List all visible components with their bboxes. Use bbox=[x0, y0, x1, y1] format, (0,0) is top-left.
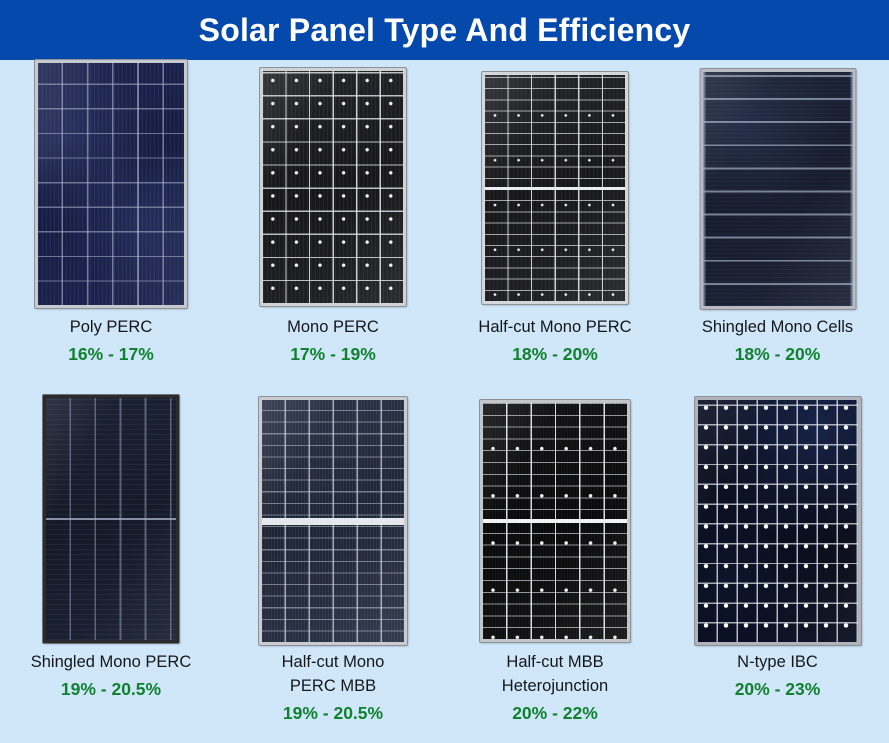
panel-efficiency: 20% - 23% bbox=[666, 677, 889, 702]
panel-image-wrap bbox=[260, 68, 406, 306]
panel-name: Half-cut MBB Heterojunction bbox=[444, 651, 666, 699]
panel-efficiency: 19% - 20.5% bbox=[222, 701, 444, 726]
panel-efficiency: 18% - 20% bbox=[666, 342, 889, 367]
panel-efficiency: 17% - 19% bbox=[222, 342, 444, 367]
header-bar: Solar Panel Type And Efficiency bbox=[0, 0, 889, 60]
page-title: Solar Panel Type And Efficiency bbox=[199, 14, 691, 46]
panel-grid: Poly PERC 16% - 17% Mono PERC 17% - 19% bbox=[0, 60, 889, 743]
panel-image-wrap bbox=[695, 397, 861, 645]
infographic-root: Solar Panel Type And Efficiency Poly PER… bbox=[0, 0, 889, 743]
panel-image-wrap bbox=[35, 60, 187, 308]
panel-name: N-type IBC bbox=[666, 651, 889, 675]
panel-image-wrap bbox=[482, 72, 628, 304]
panel-image-wrap bbox=[259, 397, 407, 645]
panel-efficiency: 19% - 20.5% bbox=[0, 677, 222, 702]
solar-panel-halfcut-mono-perc-icon bbox=[482, 72, 628, 304]
panel-image-wrap bbox=[700, 69, 855, 309]
panel-name: Half-cut Mono PERC bbox=[444, 316, 666, 340]
panel-name: Mono PERC bbox=[222, 316, 444, 340]
panel-name: Shingled Mono PERC bbox=[0, 651, 222, 675]
solar-panel-shingled-mono-cells-icon bbox=[700, 69, 855, 309]
panel-name: Half-cut Mono PERC MBB bbox=[222, 651, 444, 699]
solar-panel-poly-perc-icon bbox=[35, 60, 187, 308]
panel-name: Poly PERC bbox=[0, 316, 222, 340]
panel-image-wrap bbox=[43, 395, 179, 643]
solar-panel-shingled-mono-perc-icon bbox=[43, 395, 179, 643]
panel-efficiency: 20% - 22% bbox=[444, 701, 666, 726]
solar-panel-halfcut-mono-perc-mbb-icon bbox=[259, 397, 407, 645]
solar-panel-mono-perc-icon bbox=[260, 68, 406, 306]
panel-efficiency: 16% - 17% bbox=[0, 342, 222, 367]
panel-name: Shingled Mono Cells bbox=[666, 316, 889, 340]
solar-panel-halfcut-mbb-heterojunction-icon bbox=[480, 400, 630, 642]
panel-efficiency: 18% - 20% bbox=[444, 342, 666, 367]
solar-panel-n-type-ibc-icon bbox=[695, 397, 861, 645]
panel-image-wrap bbox=[480, 400, 630, 642]
